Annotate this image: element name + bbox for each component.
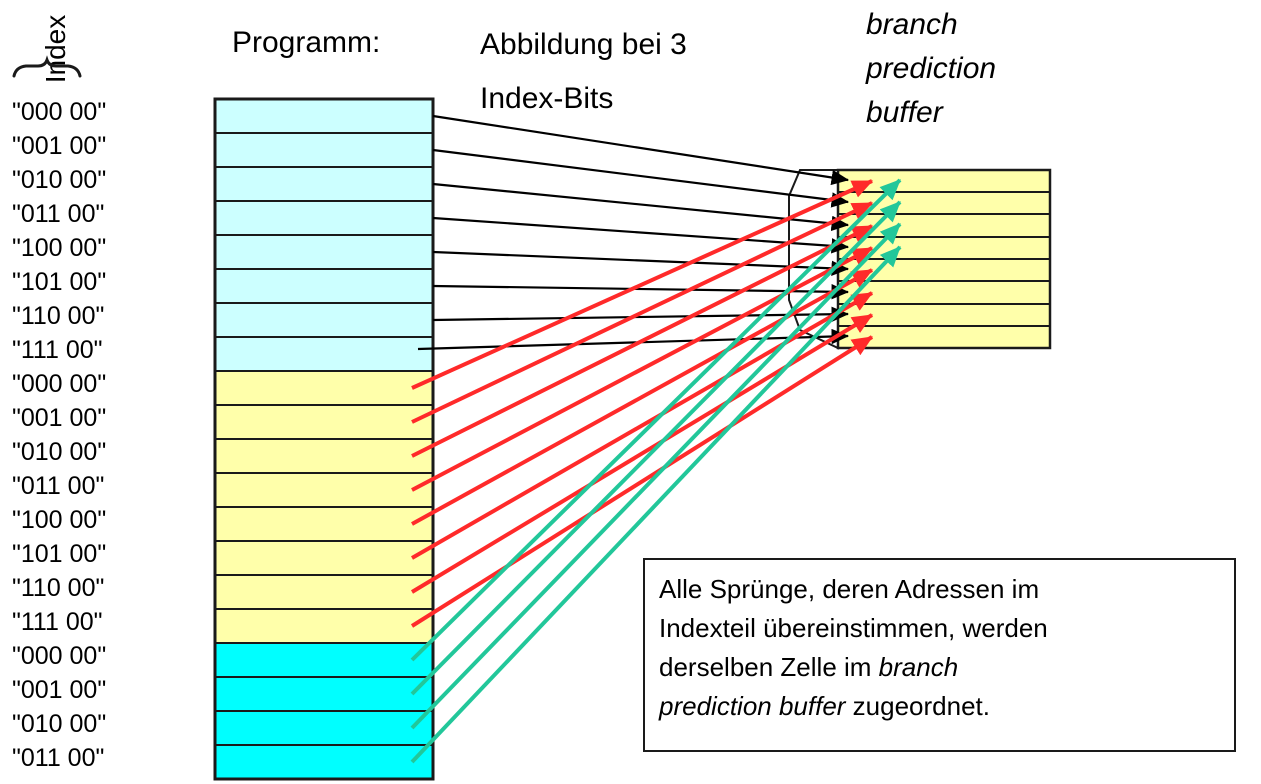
address-label: "001 00" (12, 678, 106, 703)
branch-prediction-buffer (838, 170, 1050, 348)
note-line-3-italic: branch (879, 652, 959, 682)
note-line-2: Indexteil übereinstimmen, werden (659, 609, 1220, 648)
address-label: "011 00" (12, 202, 104, 227)
program-block (215, 99, 433, 779)
address-label: "011 00" (12, 746, 104, 771)
address-label: "000 00" (12, 644, 106, 669)
address-label: "110 00" (12, 576, 104, 601)
address-label: "011 00" (12, 474, 104, 499)
address-label: "001 00" (12, 406, 106, 431)
note-line-4: prediction buffer zugeordnet. (659, 687, 1220, 726)
address-label: "010 00" (12, 712, 106, 737)
address-label: "111 00" (12, 338, 103, 363)
index-brace (14, 60, 80, 76)
address-label: "101 00" (12, 270, 106, 295)
address-label: "111 00" (12, 610, 103, 635)
address-label: "100 00" (12, 236, 106, 261)
note-line-1: Alle Sprünge, deren Adressen im (659, 570, 1220, 609)
address-label: "010 00" (12, 440, 106, 465)
address-label: "000 00" (12, 372, 106, 397)
arrows-group-black (418, 116, 848, 349)
address-label: "110 00" (12, 304, 104, 329)
address-label: "001 00" (12, 134, 106, 159)
note-line-3-plain: derselben Zelle im (659, 652, 879, 682)
explanation-note-box: Alle Sprünge, deren Adressen im Indextei… (643, 558, 1236, 752)
note-line-4-italic: prediction buffer (659, 691, 845, 721)
address-label: "010 00" (12, 168, 106, 193)
address-label: "101 00" (12, 542, 106, 567)
address-label: "000 00" (12, 100, 106, 125)
diagram-canvas: Index Programm: Abbildung bei 3 Index-Bi… (0, 0, 1261, 784)
note-line-4-plain: zugeordnet. (845, 691, 990, 721)
note-line-3: derselben Zelle im branch (659, 648, 1220, 687)
address-label: "100 00" (12, 508, 106, 533)
